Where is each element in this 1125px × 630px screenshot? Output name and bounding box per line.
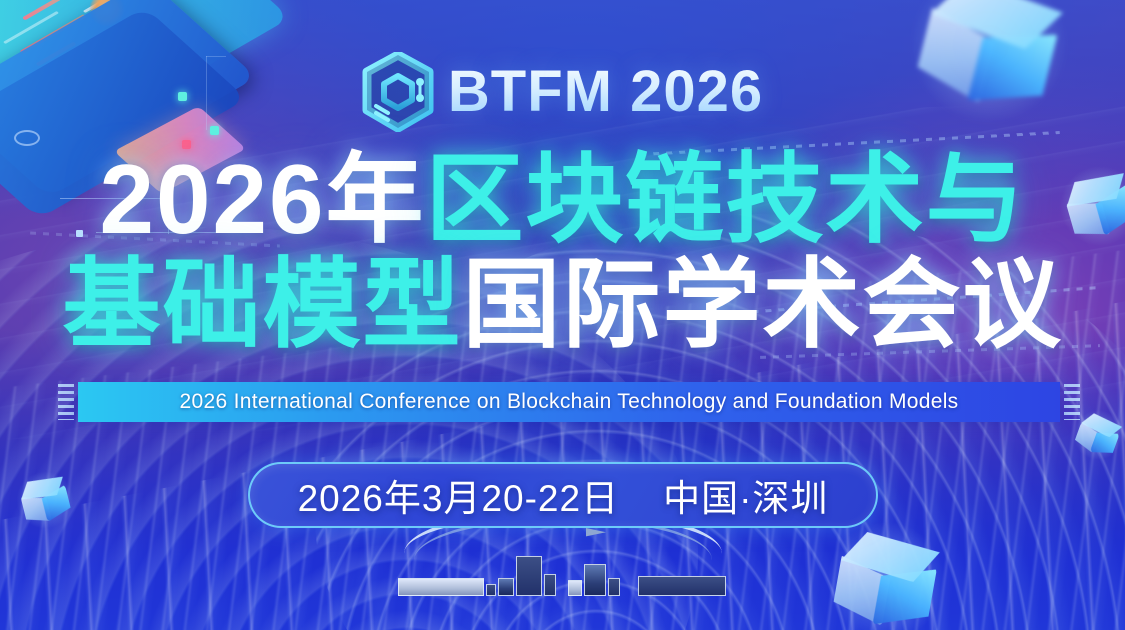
date-location-pill: 2026年3月20-22日 中国·深圳 [248,462,878,528]
hexagon-cube-blockchain-icon [362,52,434,132]
title-line2-topic: 基础模型 [62,249,462,359]
title-line1-year: 2026年 [99,144,425,254]
conference-date: 2026年3月20-22日 [298,468,620,522]
title-line-2: 基础模型国际学术会议 [0,255,1125,353]
brand-name: BTFM 2026 [448,63,763,121]
subtitle-text: 2026 International Conference on Blockch… [180,390,959,414]
title-line1-topic: 区块链技术与 [426,144,1026,254]
title-line2-suffix: 国际学术会议 [463,249,1063,359]
subtitle-bar-edge-right [1064,384,1080,420]
subtitle-bar-edge-left [58,384,74,420]
brand-row: BTFM 2026 [0,52,1125,132]
title-line-1: 2026年区块链技术与 [0,150,1125,248]
conference-location: 中国·深圳 [663,468,828,522]
banner-content: BTFM 2026 2026年区块链技术与 基础模型国际学术会议 2026 In… [0,0,1125,630]
subtitle-bar: 2026 International Conference on Blockch… [78,382,1060,422]
conference-banner: BTFM 2026 2026年区块链技术与 基础模型国际学术会议 2026 In… [0,0,1125,630]
